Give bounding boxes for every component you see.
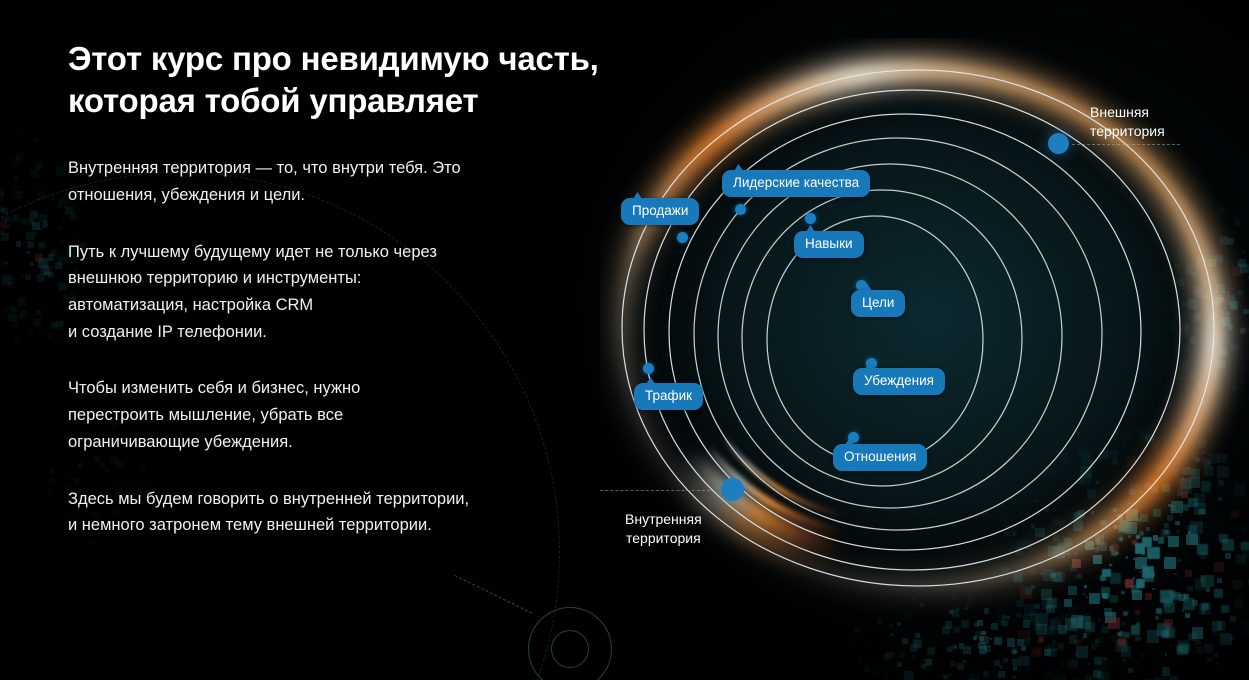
node-label-ubezhdeniya[interactable]: Убеждения — [853, 368, 945, 395]
node-label-trafik[interactable]: Трафик — [634, 383, 703, 410]
node-dot-prodazhi — [677, 232, 688, 243]
node-label-otnosheniya[interactable]: Отношения — [833, 444, 927, 471]
node-label-liderskie-kachestva[interactable]: Лидерские качества — [722, 170, 870, 197]
node-label-tseli[interactable]: Цели — [851, 290, 905, 317]
outer-territory-anchor-dot — [1048, 133, 1069, 154]
paragraph-1: Внутренняя территория — то, что внутри т… — [68, 155, 628, 208]
paragraph-2: Путь к лучшему будущему идет не только ч… — [68, 239, 628, 346]
paragraph-3: Чтобы изменить себя и бизнес, нужно пере… — [68, 375, 628, 455]
node-label-prodazhi[interactable]: Продажи — [621, 198, 699, 225]
page-title: Этот курс про невидимую часть, которая т… — [68, 38, 628, 121]
node-dot-trafik — [643, 363, 654, 374]
decorative-ring-inner — [551, 630, 589, 668]
node-label-navyki[interactable]: Навыки — [794, 231, 864, 258]
text-column: Этот курс про невидимую часть, которая т… — [68, 38, 628, 539]
inner-territory-leader-line — [600, 490, 710, 491]
slide-canvas: Этот курс про невидимую часть, которая т… — [0, 0, 1249, 680]
node-dot-navyki — [805, 213, 816, 224]
inner-territory-anchor-dot — [721, 478, 744, 501]
outer-territory-leader-line — [1072, 144, 1180, 145]
inner-territory-label: Внутренняя территория — [625, 510, 702, 548]
paragraph-4: Здесь мы будем говорить о внутренней тер… — [68, 486, 628, 539]
outer-territory-label: Внешняя территория — [1090, 103, 1165, 141]
node-dot-liderskie — [735, 204, 746, 215]
